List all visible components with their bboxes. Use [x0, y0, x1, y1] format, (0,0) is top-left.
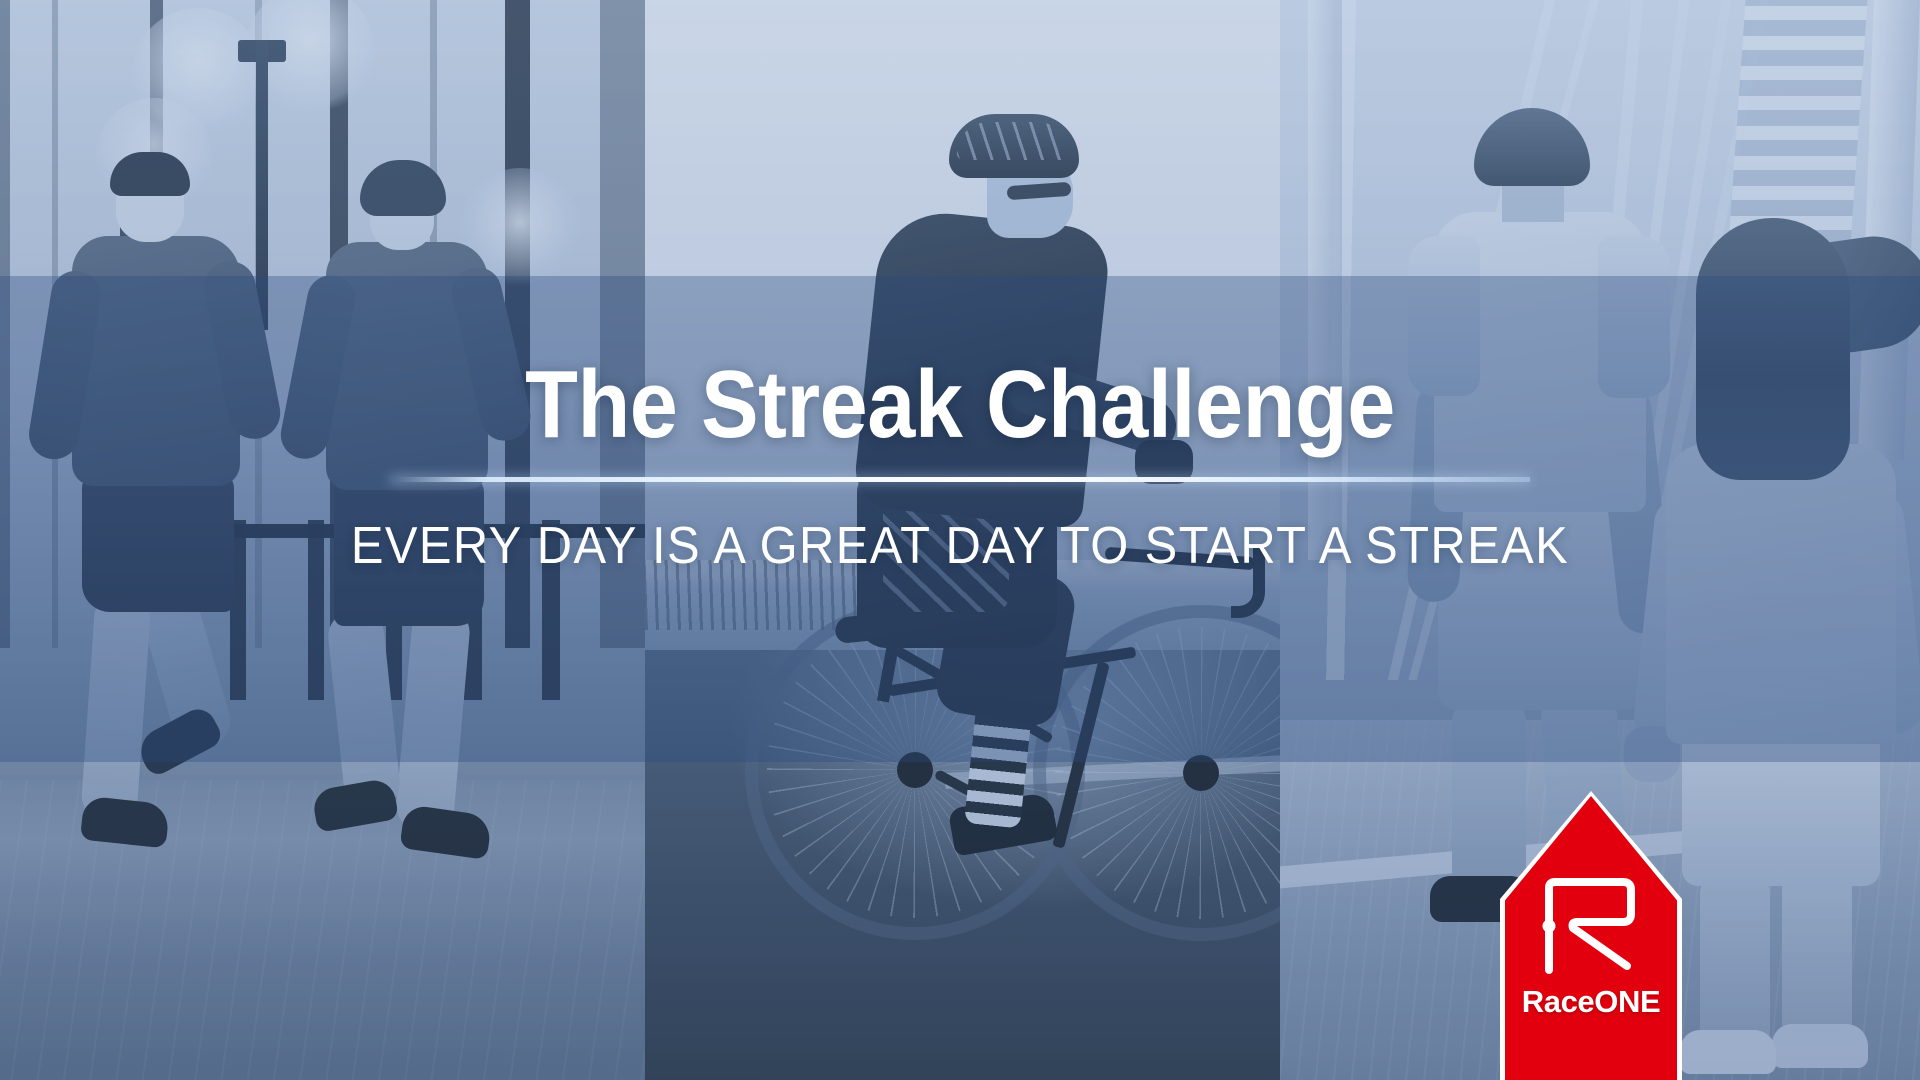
hero-banner: The Streak Challenge EVERY DAY IS A GREA…: [0, 0, 1920, 1080]
runners-photo: [0, 0, 645, 1080]
bridge-pylon: [1308, 0, 1342, 560]
photo-panel-runners: [0, 0, 645, 1080]
logo-wordmark: RaceONE: [1505, 984, 1677, 1020]
cyclist-photo: [645, 0, 1280, 1080]
photo-panel-cyclist: [645, 0, 1280, 1080]
bike-drop-bar: [1231, 548, 1265, 618]
route-r-icon: [1537, 874, 1645, 974]
cyclist-figure: [775, 100, 1215, 800]
runner-figure: [30, 160, 290, 900]
raceone-logo[interactable]: RaceONE: [1505, 796, 1677, 1080]
runner-figure: [290, 170, 540, 910]
